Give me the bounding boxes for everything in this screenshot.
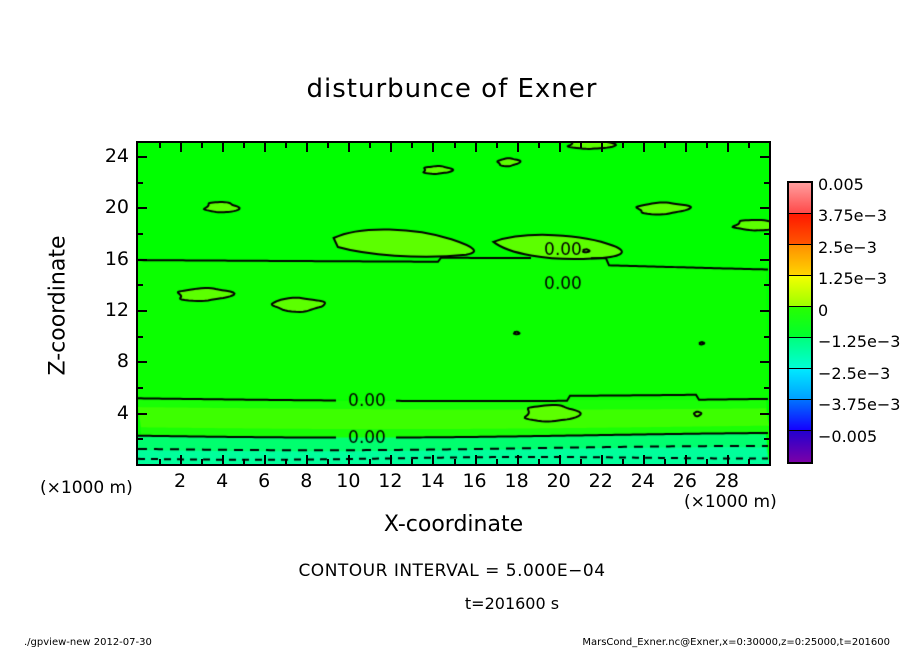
contour-plot-area[interactable] xyxy=(136,141,771,466)
axis-tick-mark xyxy=(264,143,266,152)
y-tick-label: 12 xyxy=(89,299,129,321)
axis-tick-mark xyxy=(580,143,582,148)
axis-tick-mark xyxy=(159,459,161,464)
axis-tick-mark xyxy=(180,455,182,464)
axis-tick-mark xyxy=(138,259,147,261)
x-tick-label: 20 xyxy=(539,470,579,492)
axis-tick-mark xyxy=(201,459,203,464)
axis-tick-mark xyxy=(348,143,350,152)
x-axis-title: X-coordinate xyxy=(136,512,771,537)
colorbar-tick-label: 1.25e−3 xyxy=(818,269,904,288)
axis-tick-mark xyxy=(764,233,769,235)
axis-tick-mark xyxy=(760,310,769,312)
contour-interval-annotation: CONTOUR INTERVAL = 5.000E−04 xyxy=(0,561,904,581)
colorbar-tick-label: −2.5e−3 xyxy=(818,364,904,383)
axis-tick-mark xyxy=(538,459,540,464)
axis-tick-mark xyxy=(517,143,519,152)
footer-dataset: MarsCond_Exner.nc@Exner,x=0:30000,z=0:25… xyxy=(582,637,890,648)
colorbar-tick-label: 2.5e−3 xyxy=(818,238,904,257)
axis-tick-mark xyxy=(285,459,287,464)
colorbar-band xyxy=(789,276,811,307)
axis-tick-mark xyxy=(138,233,143,235)
x-tick-label: 4 xyxy=(202,470,242,492)
axis-tick-mark xyxy=(432,455,434,464)
axis-tick-mark xyxy=(138,336,143,338)
colorbar-band xyxy=(789,307,811,338)
colorbar-band xyxy=(789,245,811,276)
x-tick-label: 26 xyxy=(665,470,705,492)
axis-tick-mark xyxy=(243,143,245,148)
x-axis-tick-labels: 246810121416182022242628 xyxy=(136,470,771,496)
axis-tick-mark xyxy=(601,455,603,464)
page-title: disturbunce of Exner xyxy=(0,74,904,104)
axis-tick-mark xyxy=(306,143,308,152)
x-axis-unit-label: (×1000 m) xyxy=(684,492,777,512)
axis-tick-mark xyxy=(390,455,392,464)
x-tick-label: 2 xyxy=(160,470,200,492)
colorbar-tick-label: −1.25e−3 xyxy=(818,332,904,351)
axis-tick-mark xyxy=(685,455,687,464)
axis-tick-mark xyxy=(475,455,477,464)
axis-tick-mark xyxy=(390,143,392,152)
axis-tick-mark xyxy=(285,143,287,148)
axis-tick-mark xyxy=(411,459,413,464)
x-tick-label: 6 xyxy=(244,470,284,492)
colorbar-tick-labels: 0.0053.75e−32.5e−31.25e−30−1.25e−3−2.5e−… xyxy=(818,181,904,464)
axis-tick-mark xyxy=(748,459,750,464)
axis-tick-mark xyxy=(727,455,729,464)
colorbar-tick-label: 0.005 xyxy=(818,175,904,194)
x-tick-label: 24 xyxy=(623,470,663,492)
axis-tick-mark xyxy=(622,143,624,148)
axis-tick-mark xyxy=(764,336,769,338)
axis-tick-mark xyxy=(764,284,769,286)
axis-tick-mark xyxy=(159,143,161,148)
axis-tick-mark xyxy=(760,259,769,261)
axis-tick-mark xyxy=(138,438,143,440)
axis-tick-mark xyxy=(138,361,147,363)
axis-tick-mark xyxy=(764,182,769,184)
y-tick-label: 24 xyxy=(89,145,129,167)
y-tick-label: 20 xyxy=(89,196,129,218)
axis-tick-mark xyxy=(601,143,603,152)
y-tick-label: 8 xyxy=(89,350,129,372)
colorbar-tick-label: 3.75e−3 xyxy=(818,206,904,225)
axis-tick-mark xyxy=(764,438,769,440)
axis-tick-mark xyxy=(306,455,308,464)
axis-tick-mark xyxy=(664,143,666,148)
colorbar-tick-label: 0 xyxy=(818,301,904,320)
axis-tick-mark xyxy=(760,156,769,158)
colorbar-band xyxy=(789,369,811,400)
axis-tick-mark xyxy=(348,455,350,464)
axis-tick-mark xyxy=(138,310,147,312)
axis-tick-mark xyxy=(432,143,434,152)
axis-tick-mark xyxy=(180,143,182,152)
colorbar-tick-label: −0.005 xyxy=(818,427,904,446)
x-tick-label: 18 xyxy=(497,470,537,492)
axis-tick-mark xyxy=(559,455,561,464)
axis-tick-mark xyxy=(727,143,729,152)
axis-tick-mark xyxy=(760,413,769,415)
axis-tick-mark xyxy=(327,143,329,148)
colorbar-band xyxy=(789,400,811,431)
x-tick-label: 8 xyxy=(286,470,326,492)
axis-tick-mark xyxy=(760,361,769,363)
axis-tick-mark xyxy=(454,459,456,464)
footer-command: ./gpview-new 2012-07-30 xyxy=(24,637,152,648)
colorbar-band xyxy=(789,183,811,214)
colorbar-band xyxy=(789,338,811,369)
x-tick-label: 16 xyxy=(455,470,495,492)
axis-tick-mark xyxy=(138,156,147,158)
axis-tick-mark xyxy=(411,143,413,148)
axis-tick-mark xyxy=(496,143,498,148)
axis-tick-mark xyxy=(222,455,224,464)
colorbar[interactable] xyxy=(787,181,813,464)
axis-tick-mark xyxy=(664,459,666,464)
axis-tick-mark xyxy=(643,143,645,152)
axis-tick-mark xyxy=(243,459,245,464)
axis-tick-mark xyxy=(475,143,477,152)
axis-tick-mark xyxy=(538,143,540,148)
axis-tick-mark xyxy=(517,455,519,464)
axis-tick-mark xyxy=(138,182,143,184)
axis-tick-mark xyxy=(138,413,147,415)
colorbar-tick-label: −3.75e−3 xyxy=(818,395,904,414)
axis-tick-mark xyxy=(222,143,224,152)
axis-tick-mark xyxy=(454,143,456,148)
axis-tick-mark xyxy=(764,387,769,389)
axis-tick-mark xyxy=(706,143,708,148)
colorbar-band xyxy=(789,431,811,462)
axis-tick-mark xyxy=(643,455,645,464)
x-tick-label: 22 xyxy=(581,470,621,492)
axis-tick-mark xyxy=(622,459,624,464)
axis-tick-mark xyxy=(369,143,371,148)
y-axis-title: Z-coordinate xyxy=(46,206,71,406)
x-tick-label: 10 xyxy=(328,470,368,492)
y-axis-tick-labels: 4812162024 xyxy=(85,141,129,466)
axis-tick-mark xyxy=(138,284,143,286)
time-annotation: t=201600 s xyxy=(0,594,904,613)
axis-tick-mark xyxy=(327,459,329,464)
y-axis-unit-label: (×1000 m) xyxy=(40,478,133,498)
axis-tick-mark xyxy=(748,143,750,148)
axis-tick-mark xyxy=(264,455,266,464)
axis-tick-mark xyxy=(201,143,203,148)
y-tick-label: 4 xyxy=(89,402,129,424)
x-tick-label: 28 xyxy=(707,470,747,492)
colorbar-band xyxy=(789,214,811,245)
axis-tick-mark xyxy=(685,143,687,152)
axis-tick-mark xyxy=(138,207,147,209)
y-tick-label: 16 xyxy=(89,248,129,270)
contour-field-canvas xyxy=(138,143,769,464)
axis-tick-mark xyxy=(138,387,143,389)
x-tick-label: 12 xyxy=(370,470,410,492)
axis-tick-mark xyxy=(559,143,561,152)
x-tick-label: 14 xyxy=(412,470,452,492)
axis-tick-mark xyxy=(496,459,498,464)
axis-tick-mark xyxy=(706,459,708,464)
axis-tick-mark xyxy=(580,459,582,464)
axis-tick-mark xyxy=(369,459,371,464)
axis-tick-mark xyxy=(760,207,769,209)
